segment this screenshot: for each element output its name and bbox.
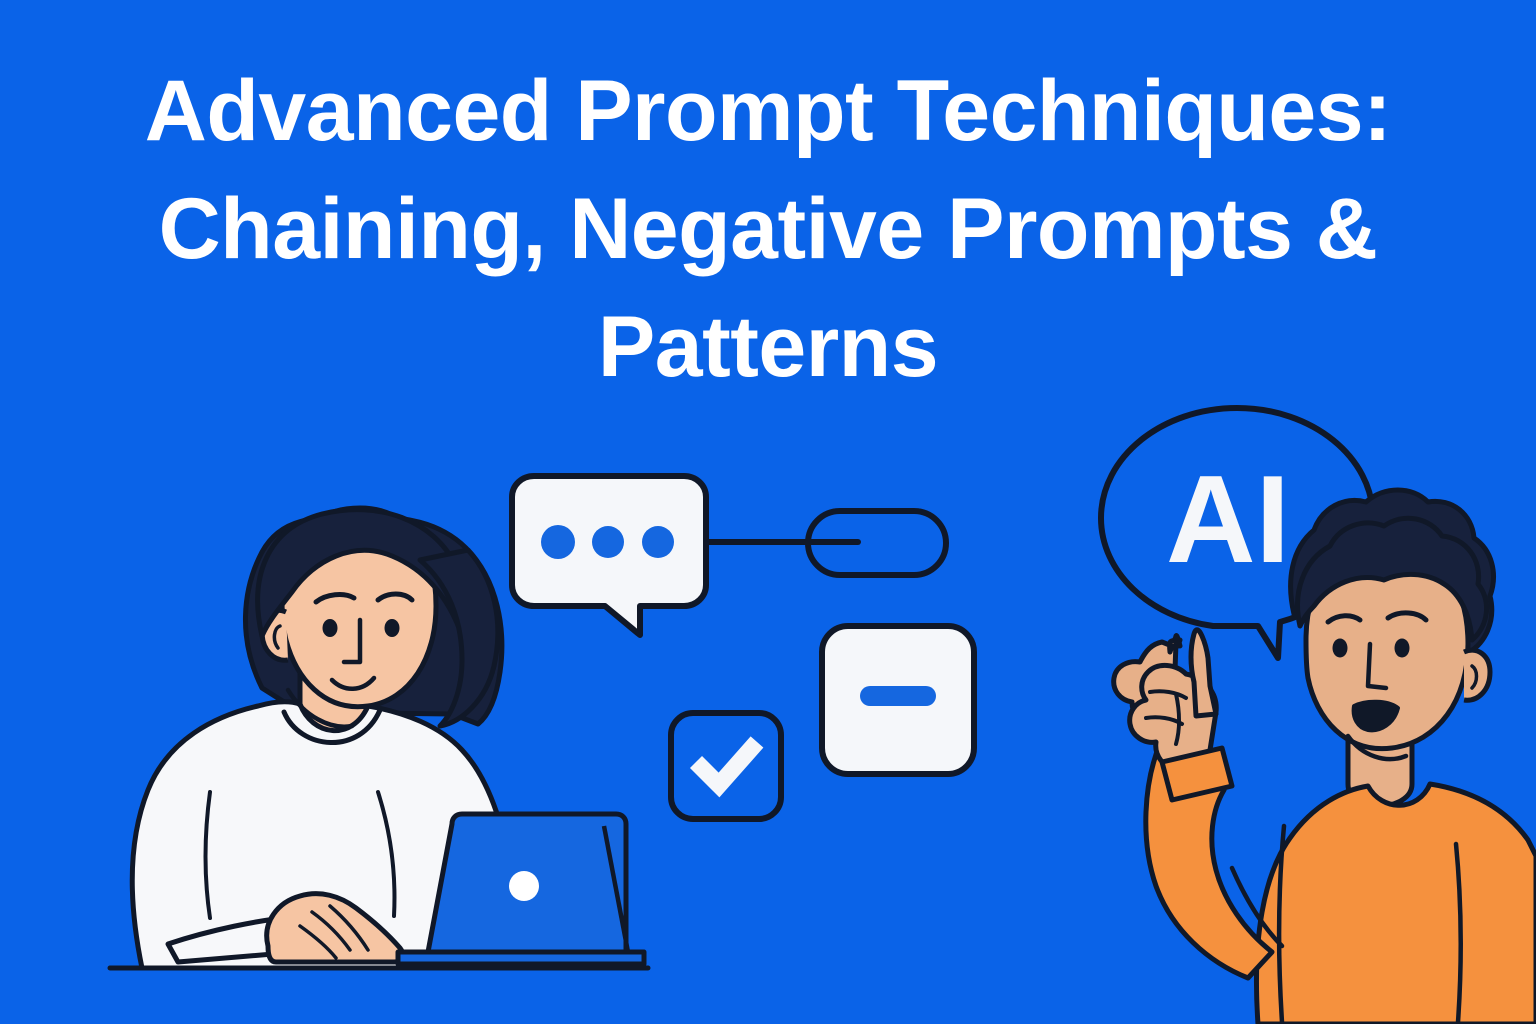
laptop-base [398,952,644,964]
chat-dot-1 [541,525,575,559]
minus-icon [860,686,936,706]
illustration-artwork: AI [0,0,1536,1024]
banner-canvas: Advanced Prompt Techniques: Chaining, Ne… [0,0,1536,1024]
woman-eye-left [323,619,338,637]
man-shirt [1256,784,1536,1024]
negative-prompt-card [822,626,974,774]
chat-dot-3 [642,526,674,558]
man-index-finger [1191,630,1216,716]
typing-indicator-bubble [512,476,706,635]
laptop-logo [509,871,539,901]
man-eye-left [1333,639,1348,658]
man-eye-right [1395,639,1410,658]
approved-pattern-card [671,713,781,819]
woman-eye-right [385,619,400,637]
ai-speech-bubble-label: AI [1166,451,1290,589]
chat-dot-2 [592,526,624,558]
